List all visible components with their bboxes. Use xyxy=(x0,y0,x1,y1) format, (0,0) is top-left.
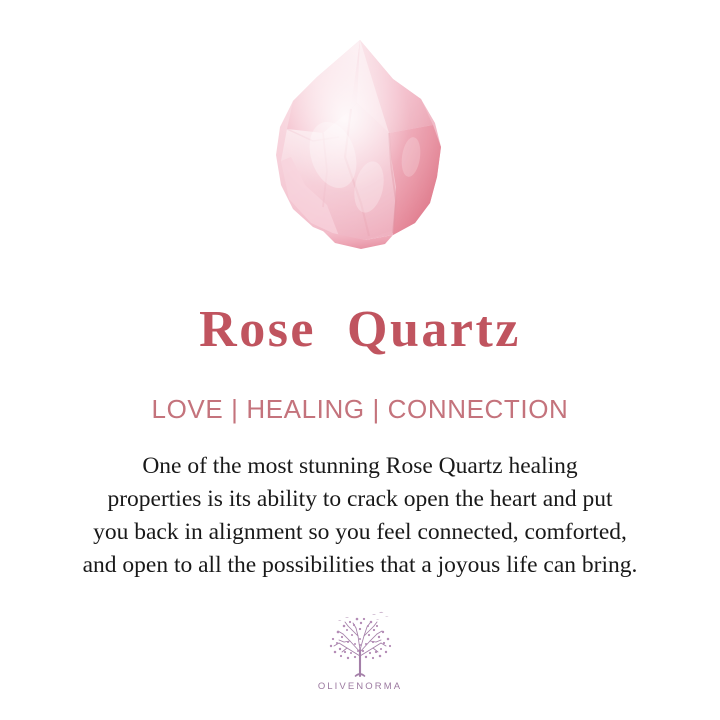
subtitle-keywords: LOVE | HEALING | CONNECTION xyxy=(0,394,720,424)
tree-of-life-icon xyxy=(314,608,406,678)
hero-image-area xyxy=(0,0,720,282)
description-line: properties is its ability to crack open … xyxy=(22,483,698,516)
description-line: One of the most stunning Rose Quartz hea… xyxy=(22,450,698,483)
description-paragraph: One of the most stunning Rose Quartz hea… xyxy=(22,450,698,582)
page-title: Rose Quartz xyxy=(0,301,720,359)
brand-wordmark: OLIVENORMA xyxy=(318,681,402,692)
rose-quartz-crystal-image xyxy=(265,37,455,252)
rose-quartz-crystal-icon xyxy=(265,37,455,252)
brand-logo: OLIVENORMA xyxy=(0,608,720,692)
crystal-soft-glow xyxy=(265,37,455,252)
rose-quartz-info-card: Rose Quartz LOVE | HEALING | CONNECTION … xyxy=(0,0,720,720)
description-line: and open to all the possibilities that a… xyxy=(22,549,698,582)
description-line: you back in alignment so you feel connec… xyxy=(22,516,698,549)
